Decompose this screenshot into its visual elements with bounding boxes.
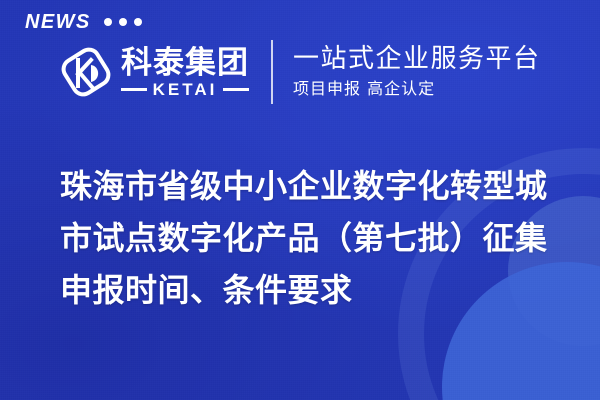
tagline-secondary: 项目申报 高企认定 <box>293 79 541 98</box>
dot-icon <box>134 18 142 26</box>
brand-header: 科泰集团 KETAI 一站式企业服务平台 项目申报 高企认定 <box>58 40 541 104</box>
news-dots-icon <box>104 18 142 26</box>
wordmark-rule-left <box>121 88 147 91</box>
tagline-primary: 一站式企业服务平台 <box>293 45 541 74</box>
brand-name-en-row: KETAI <box>121 81 249 98</box>
news-eyebrow: NEWS <box>25 12 142 32</box>
brand-name-cn: 科泰集团 <box>121 46 249 79</box>
news-label: NEWS <box>25 12 91 32</box>
brand-divider <box>271 40 273 104</box>
headline-title: 珠海市省级中小企业数字化转型城市试点数字化产品（第七批）征集申报时间、条件要求 <box>60 161 560 316</box>
news-banner: NEWS 科泰集团 <box>0 0 600 400</box>
brand-wordmark: 科泰集团 KETAI <box>121 46 249 98</box>
ketai-diamond-monogram-logo-icon <box>58 41 114 103</box>
dot-icon <box>119 18 127 26</box>
brand-name-en: KETAI <box>153 81 218 98</box>
dot-icon <box>104 18 112 26</box>
tagline-block: 一站式企业服务平台 项目申报 高企认定 <box>293 45 541 98</box>
wordmark-rule-right <box>223 88 249 91</box>
